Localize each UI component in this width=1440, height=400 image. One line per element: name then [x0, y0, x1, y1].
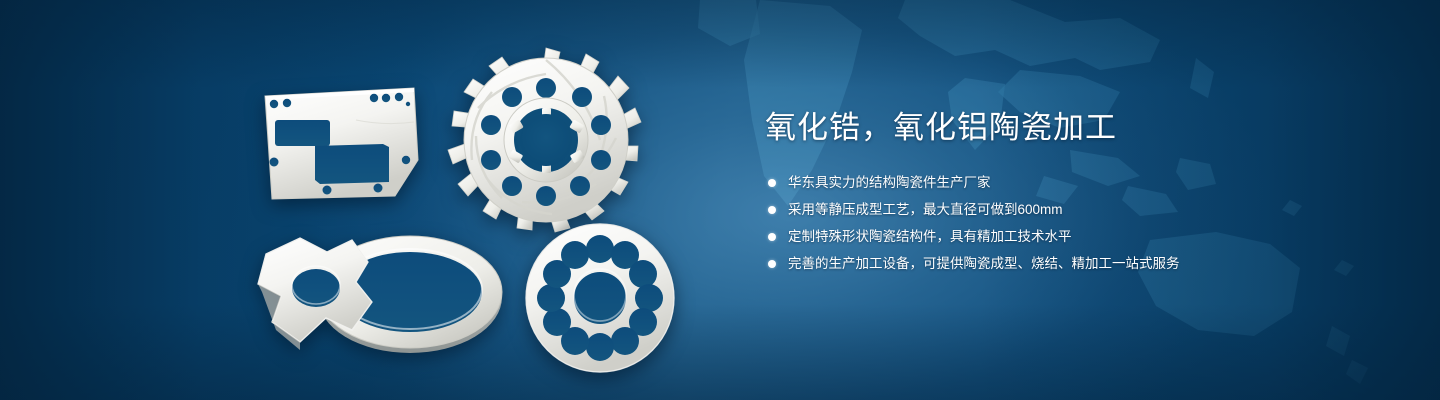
product-ceramic-cross-and-ring [258, 236, 502, 353]
bullet-dot-icon [768, 206, 776, 214]
list-item: 完善的生产加工设备，可提供陶瓷成型、烧结、精加工一站式服务 [768, 253, 1180, 275]
list-item-label: 定制特殊形状陶瓷结构件，具有精加工技术水平 [788, 226, 1072, 248]
product-ceramic-impeller [448, 48, 641, 232]
list-item-label: 采用等静压成型工艺，最大直径可做到600mm [788, 199, 1063, 221]
hero-banner: 氧化锆，氧化铝陶瓷加工 华东具实力的结构陶瓷件生产厂家 采用等静压成型工艺，最大… [0, 0, 1440, 400]
bullet-dot-icon [768, 179, 776, 187]
bullet-dot-icon [768, 233, 776, 241]
product-ceramic-plate [265, 88, 418, 199]
list-item: 定制特殊形状陶瓷结构件，具有精加工技术水平 [768, 226, 1180, 248]
feature-list: 华东具实力的结构陶瓷件生产厂家 采用等静压成型工艺，最大直径可做到600mm 定… [768, 172, 1180, 280]
product-ceramic-hole-disc [526, 224, 674, 372]
page-title: 氧化锆，氧化铝陶瓷加工 [765, 106, 1385, 150]
list-item: 采用等静压成型工艺，最大直径可做到600mm [768, 199, 1180, 221]
list-item-label: 完善的生产加工设备，可提供陶瓷成型、烧结、精加工一站式服务 [788, 253, 1180, 275]
list-item: 华东具实力的结构陶瓷件生产厂家 [768, 172, 1180, 194]
list-item-label: 华东具实力的结构陶瓷件生产厂家 [788, 172, 991, 194]
product-photo-group [0, 0, 720, 400]
banner-copy: 氧化锆，氧化铝陶瓷加工 华东具实力的结构陶瓷件生产厂家 采用等静压成型工艺，最大… [765, 106, 1385, 150]
bullet-dot-icon [768, 260, 776, 268]
